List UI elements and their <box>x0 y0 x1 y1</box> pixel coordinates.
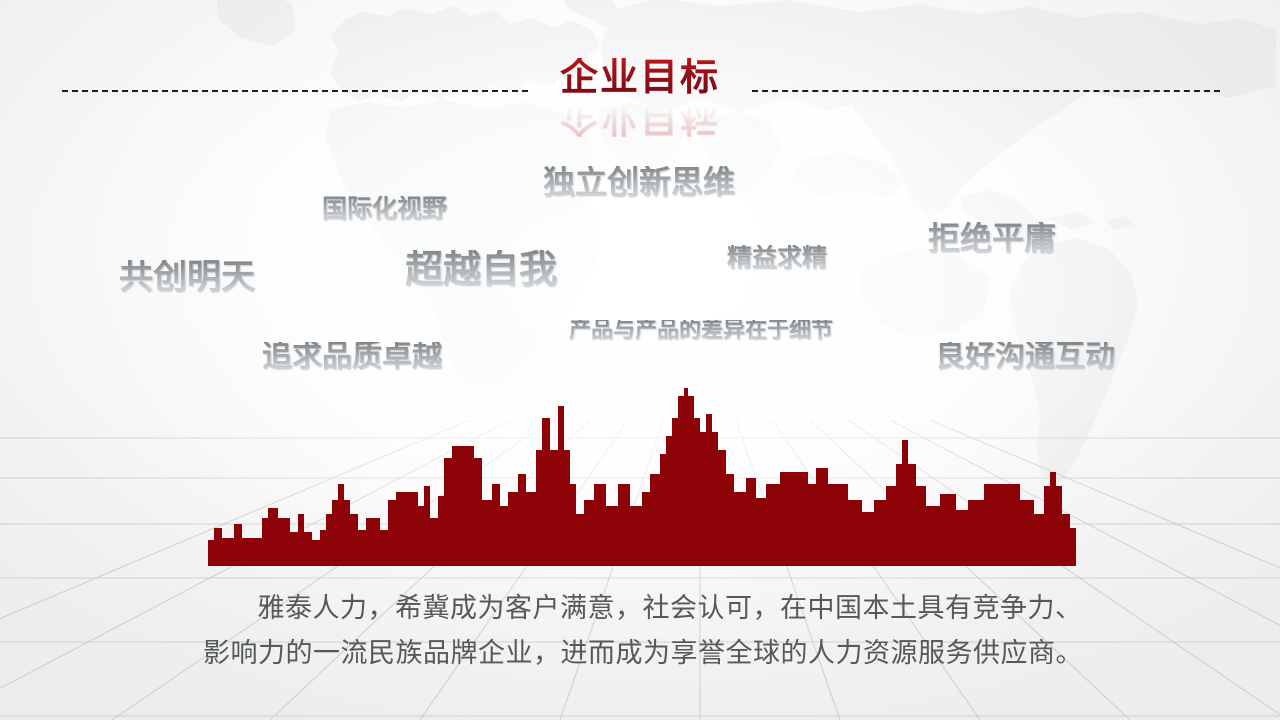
word-cloud-item: 追求品质卓越 <box>262 342 442 372</box>
slide-header: 企业目标 企业目标 <box>0 58 1280 128</box>
word-cloud-item: 共创明天 <box>119 260 255 294</box>
city-skyline-silhouette <box>208 388 1076 566</box>
caption-paragraph: 雅泰人力，希冀成为客户满意，社会认可，在中国本土具有竞争力、 影响力的一流民族品… <box>120 586 1166 676</box>
word-cloud-item: 产品与产品的差异在于细节 <box>569 320 833 342</box>
word-cloud-item: 良好沟通互动 <box>935 342 1115 372</box>
word-cloud-item: 国际化视野 <box>322 196 447 221</box>
word-cloud-item: 超越自我 <box>405 250 557 288</box>
word-cloud: 国际化视野 独立创新思维 拒绝平庸 精益求精 共创明天 超越自我 产品与产品的差… <box>0 150 1280 400</box>
page-title-reflection: 企业目标 <box>0 99 1280 137</box>
word-cloud-item: 精益求精 <box>727 245 827 270</box>
page-title-reflection-text: 企业目标 <box>560 99 720 137</box>
slide-canvas: 企业目标 企业目标 国际化视野 独立创新思维 拒绝平庸 精益求精 共创明天 超越… <box>0 0 1280 720</box>
word-cloud-item: 独立创新思维 <box>543 166 735 198</box>
skyline-path <box>208 388 1076 566</box>
caption-line-2: 影响力的一流民族品牌企业，进而成为享誉全球的人力资源服务供应商。 <box>120 631 1166 676</box>
caption-line-1: 雅泰人力，希冀成为客户满意，社会认可，在中国本土具有竞争力、 <box>120 586 1166 631</box>
page-title-text: 企业目标 <box>560 58 720 96</box>
skyline-base <box>208 544 1076 566</box>
page-title: 企业目标 <box>0 58 1280 96</box>
word-cloud-item: 拒绝平庸 <box>928 222 1056 254</box>
